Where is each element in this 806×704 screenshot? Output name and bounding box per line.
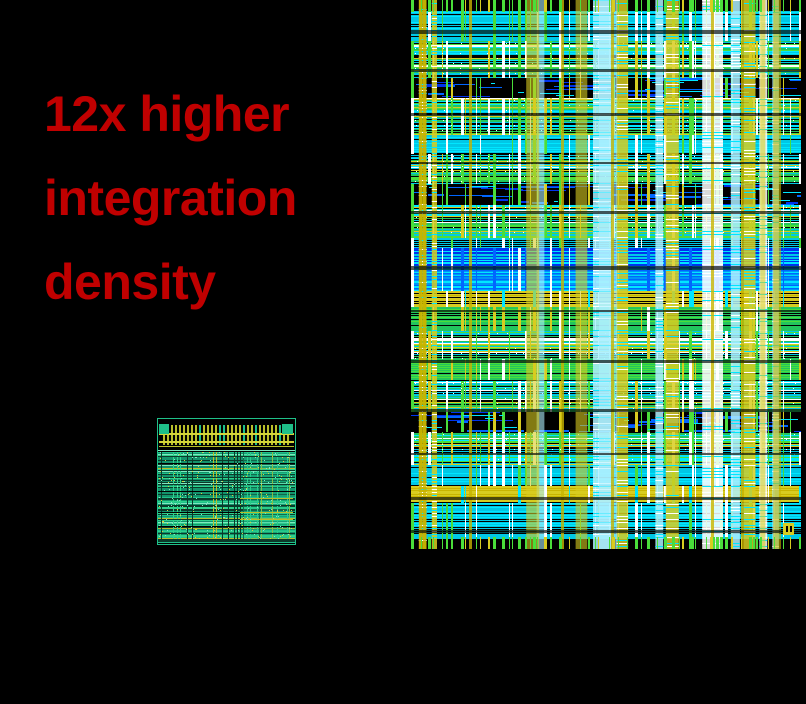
slide-canvas: 12x higher integration density (0, 0, 806, 704)
legacy-chip-die-photo (157, 418, 296, 545)
new-chip-die-canvas (411, 0, 801, 549)
page-title: 12x higher integration density (44, 72, 384, 324)
legacy-chip-die-canvas (157, 418, 296, 545)
new-chip-die-photo (411, 0, 801, 549)
